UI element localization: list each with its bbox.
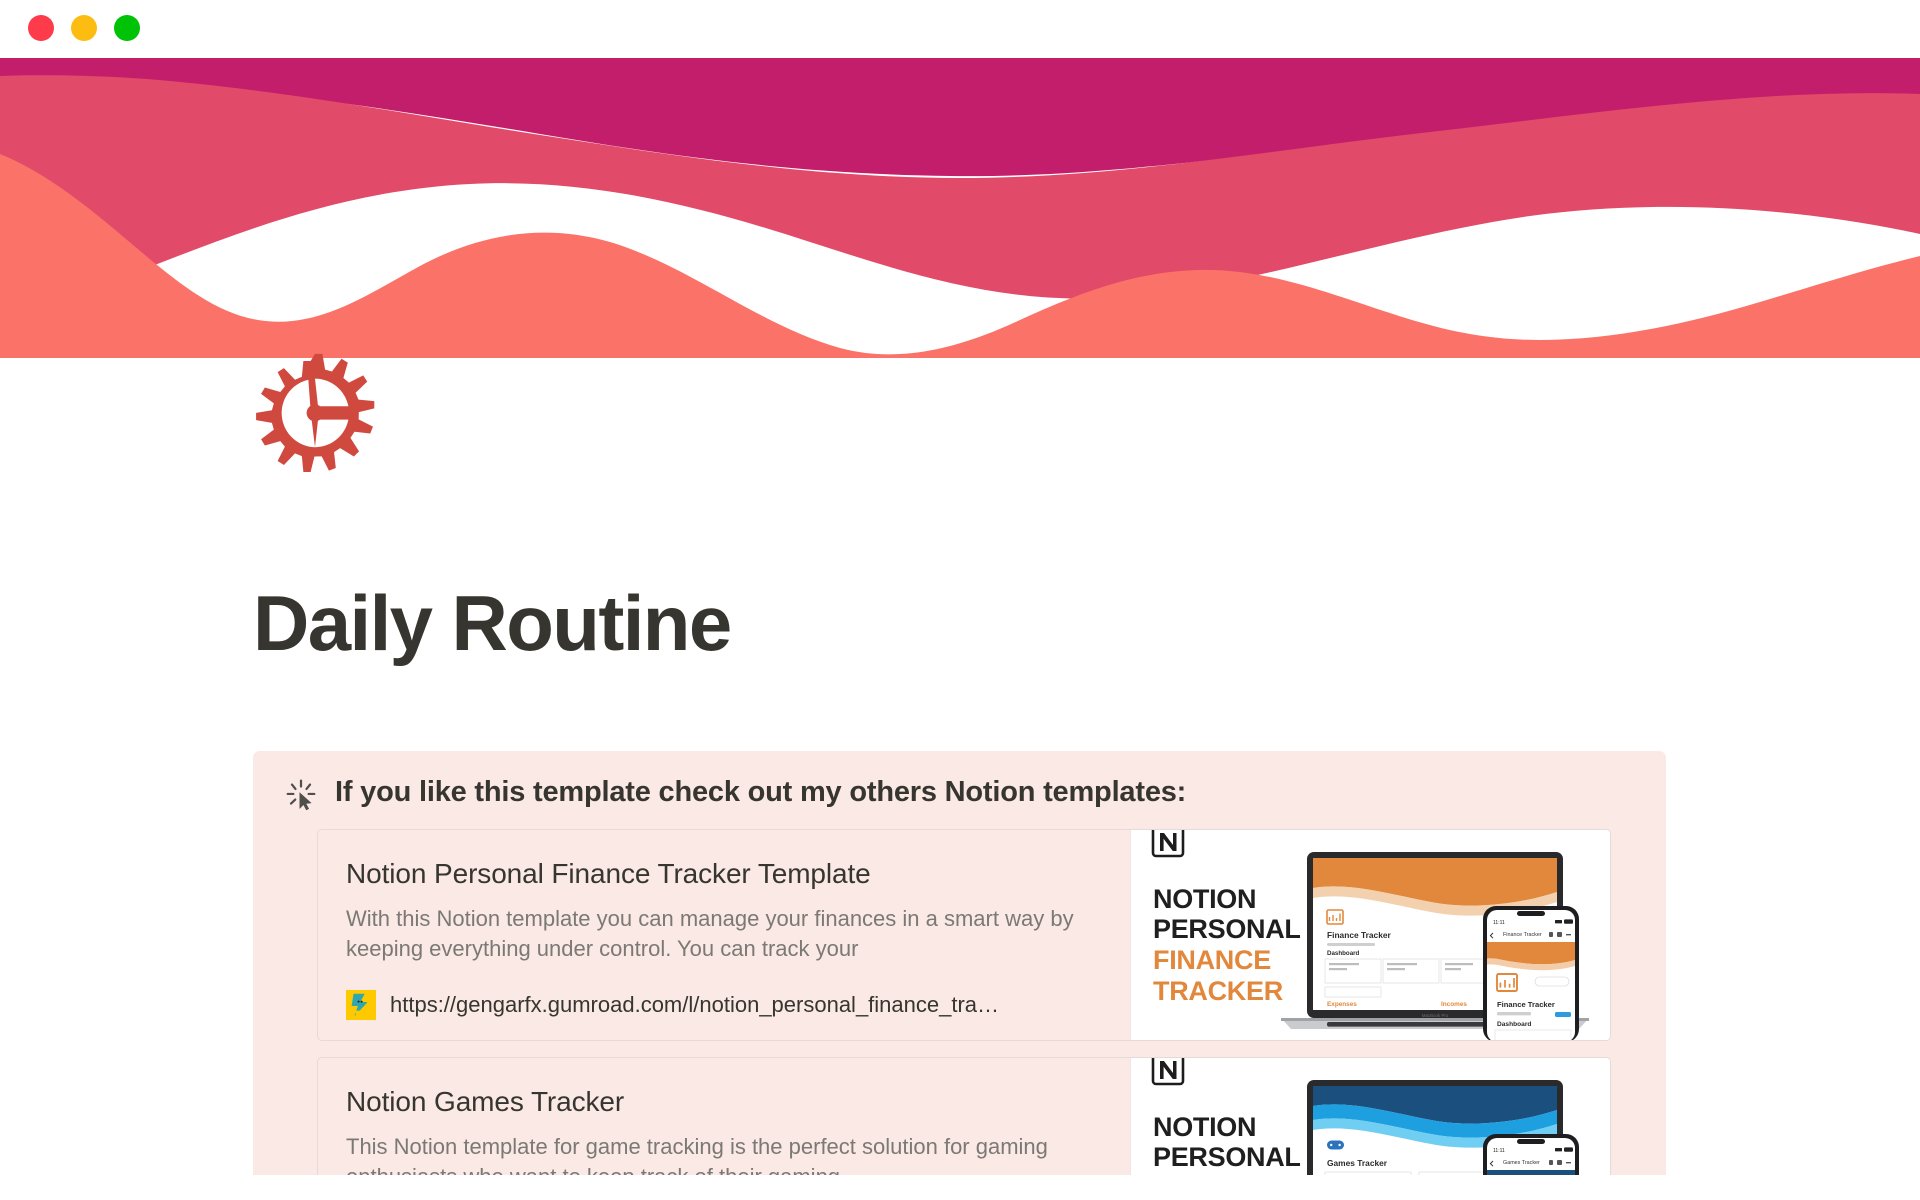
svg-text:PERSONAL: PERSONAL xyxy=(1153,1142,1301,1172)
page-icon-gear[interactable] xyxy=(249,345,381,477)
bookmark-url[interactable]: https://gengarfx.gumroad.com/l/notion_pe… xyxy=(390,991,999,1020)
svg-text:MacBook Pro: MacBook Pro xyxy=(1422,1013,1449,1018)
page-title[interactable]: Daily Routine xyxy=(253,582,731,665)
svg-text:11:11: 11:11 xyxy=(1493,920,1505,926)
bookmark-thumbnail: NOTION PERSONAL FINANCE TRACKER xyxy=(1130,830,1610,1040)
svg-text:Finance Tracker: Finance Tracker xyxy=(1497,1000,1555,1009)
window-titlebar xyxy=(0,0,1920,58)
promo-callout-block[interactable]: If you like this template check out my o… xyxy=(253,751,1666,1200)
bookmark-title: Notion Games Tracker xyxy=(346,1084,1102,1119)
close-window-button[interactable] xyxy=(28,15,54,41)
phone-mockup: 11:11 Finance Tracker xyxy=(1483,906,1579,1040)
page-cover-image[interactable] xyxy=(0,58,1920,358)
viewport-bottom-cutoff xyxy=(0,1175,1920,1200)
maximize-window-button[interactable] xyxy=(114,15,140,41)
svg-text:Expenses: Expenses xyxy=(1327,1001,1357,1008)
svg-text:TRACKER: TRACKER xyxy=(1153,976,1283,1006)
svg-text:NOTION: NOTION xyxy=(1153,1112,1256,1142)
bookmark-title: Notion Personal Finance Tracker Template xyxy=(346,856,1102,891)
bookmark-link-row[interactable]: https://gengarfx.gumroad.com/l/notion_pe… xyxy=(346,978,1102,1020)
bookmark-card[interactable]: Notion Personal Finance Tracker Template… xyxy=(317,829,1611,1041)
notion-personal-finance-tracker-preview: NOTION PERSONAL FINANCE TRACKER xyxy=(1131,830,1610,1040)
click-cursor-icon xyxy=(283,777,319,813)
bookmark-description: With this Notion template you can manage… xyxy=(346,904,1102,965)
callout-header: If you like this template check out my o… xyxy=(281,773,1638,813)
minimize-window-button[interactable] xyxy=(71,15,97,41)
bookmark-card-list: Notion Personal Finance Tracker Template… xyxy=(281,829,1638,1200)
svg-text:FINANCE: FINANCE xyxy=(1153,945,1271,975)
svg-text:Finance Tracker: Finance Tracker xyxy=(1503,932,1542,938)
gumroad-favicon xyxy=(346,990,376,1020)
svg-text:Finance Tracker: Finance Tracker xyxy=(1327,930,1392,940)
svg-text:PERSONAL: PERSONAL xyxy=(1153,914,1301,944)
svg-text:Dashboard: Dashboard xyxy=(1327,950,1360,957)
svg-text:11:11: 11:11 xyxy=(1493,1148,1505,1154)
svg-text:Dashboard: Dashboard xyxy=(1497,1021,1531,1028)
gear-icon xyxy=(254,350,376,472)
svg-text:Games Tracker: Games Tracker xyxy=(1503,1160,1540,1166)
wave-cover-art xyxy=(0,58,1920,358)
svg-text:Incomes: Incomes xyxy=(1441,1001,1467,1008)
callout-title: If you like this template check out my o… xyxy=(335,773,1186,812)
notion-n-logo xyxy=(1153,1058,1183,1084)
notion-app-window: Daily Routine xyxy=(0,0,1920,1200)
bookmark-text-column: Notion Personal Finance Tracker Template… xyxy=(318,830,1130,1040)
notion-n-logo xyxy=(1153,830,1183,856)
svg-text:NOTION: NOTION xyxy=(1153,884,1256,914)
svg-text:Games Tracker: Games Tracker xyxy=(1327,1158,1388,1168)
window-traffic-lights xyxy=(28,15,140,41)
